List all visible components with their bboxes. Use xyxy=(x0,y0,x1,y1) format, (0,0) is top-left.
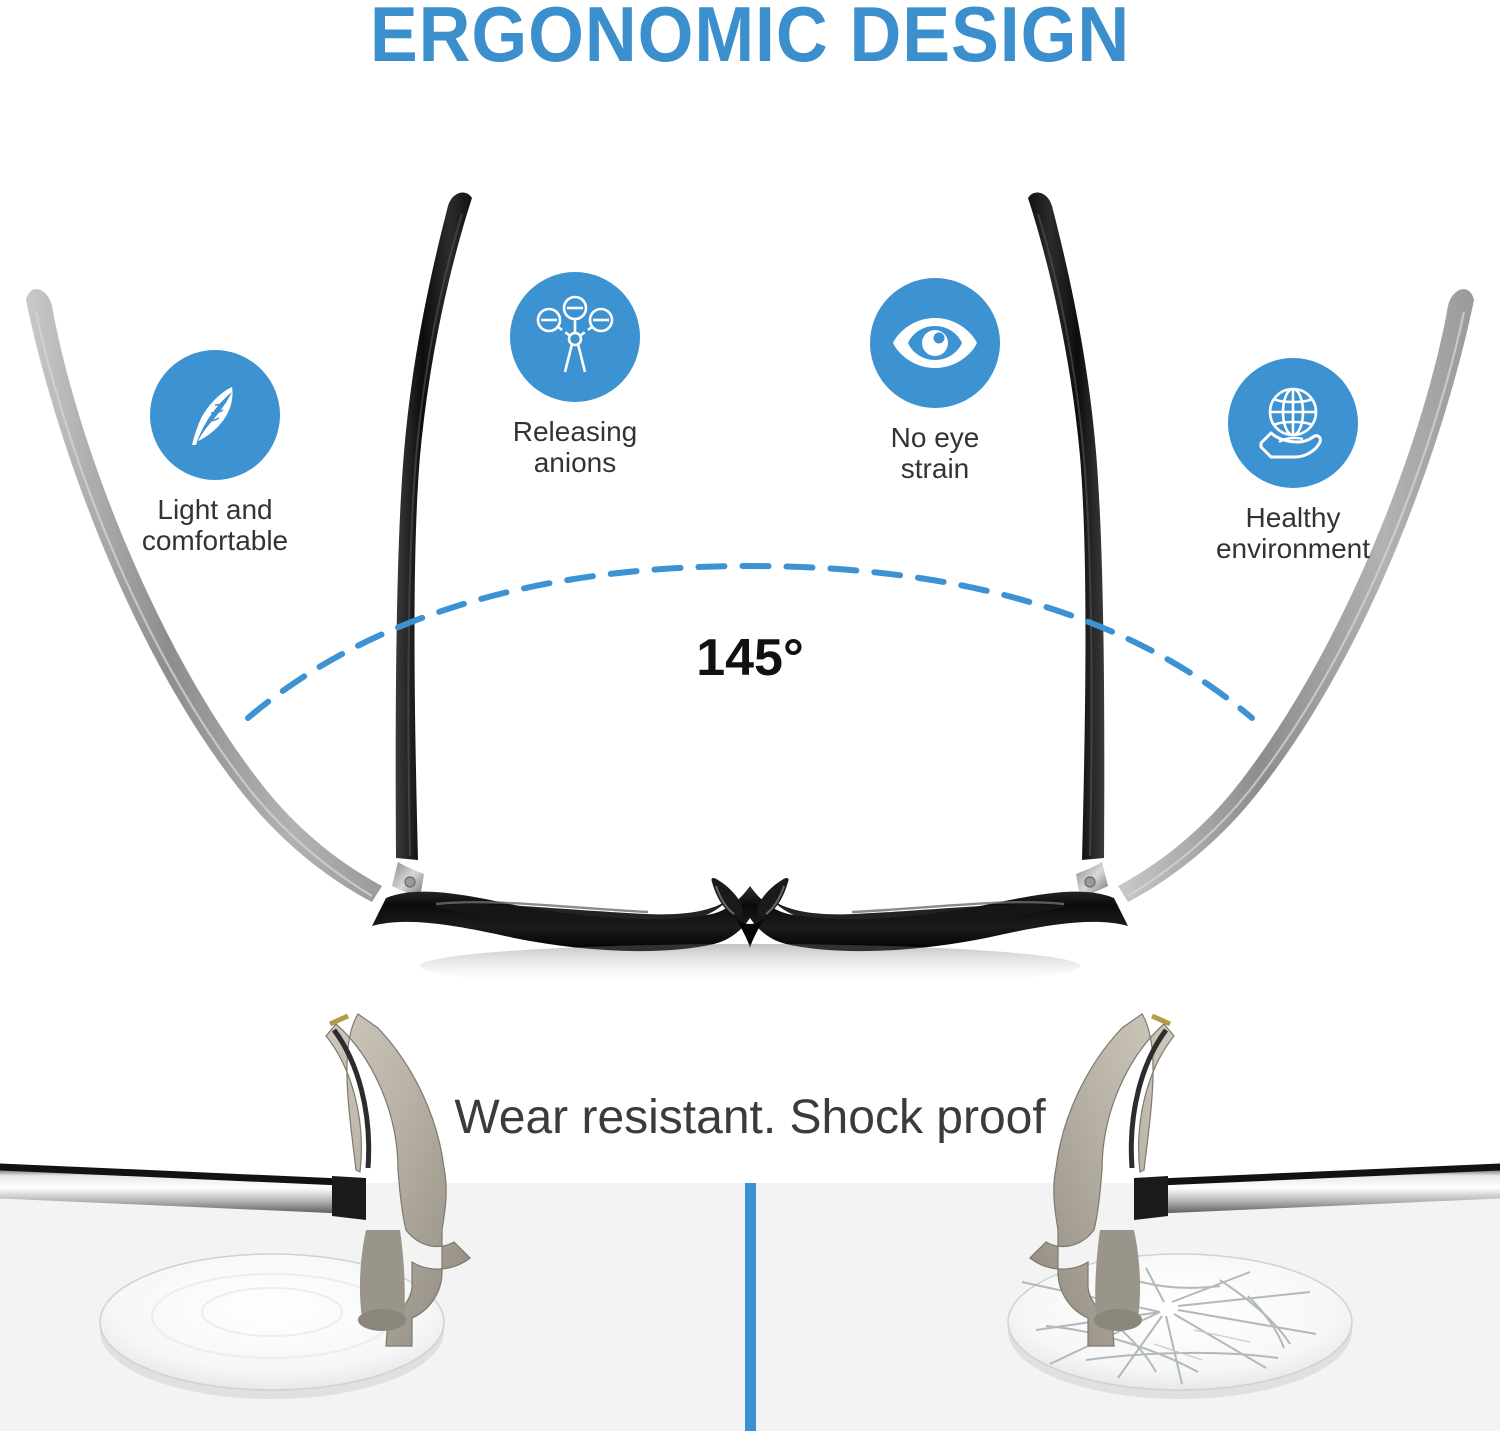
feather-icon xyxy=(175,375,255,455)
frame-front xyxy=(372,878,1128,951)
feature-icon-badge xyxy=(510,272,640,402)
hammer-shattered-lens-image xyxy=(750,1000,1500,1431)
feature-light-and-comfortable: Light and comfortable xyxy=(85,350,345,557)
angle-value-label: 145° xyxy=(0,628,1500,688)
feature-label: Healthy environment xyxy=(1163,502,1423,565)
eye-icon xyxy=(890,310,980,376)
durability-comparison-section: Wear resistant. Shock proof xyxy=(0,1000,1500,1431)
feature-icon-badge xyxy=(1228,358,1358,488)
durability-caption: Wear resistant. Shock proof xyxy=(0,1090,1500,1145)
feature-healthy-environment: Healthy environment xyxy=(1163,358,1423,565)
feature-icon-badge xyxy=(870,278,1000,408)
feature-no-eye-strain: No eye strain xyxy=(805,278,1065,485)
feature-label: No eye strain xyxy=(805,422,1065,485)
hammer-ferrule xyxy=(332,1176,366,1220)
anion-icon xyxy=(532,294,618,380)
frame-reflection xyxy=(420,944,1080,988)
globe-hand-icon xyxy=(1249,381,1337,465)
hammer-handle xyxy=(1148,1163,1500,1214)
feature-label: Releasing anions xyxy=(445,416,705,479)
hammer-intact-lens-image xyxy=(0,1000,750,1431)
feature-releasing-anions: Releasing anions xyxy=(445,272,705,479)
feature-icon-badge xyxy=(150,350,280,480)
panel-divider xyxy=(745,1183,756,1431)
hammer-ferrule xyxy=(1134,1176,1168,1220)
hammer-handle xyxy=(0,1163,352,1214)
feature-label: Light and comfortable xyxy=(85,494,345,557)
